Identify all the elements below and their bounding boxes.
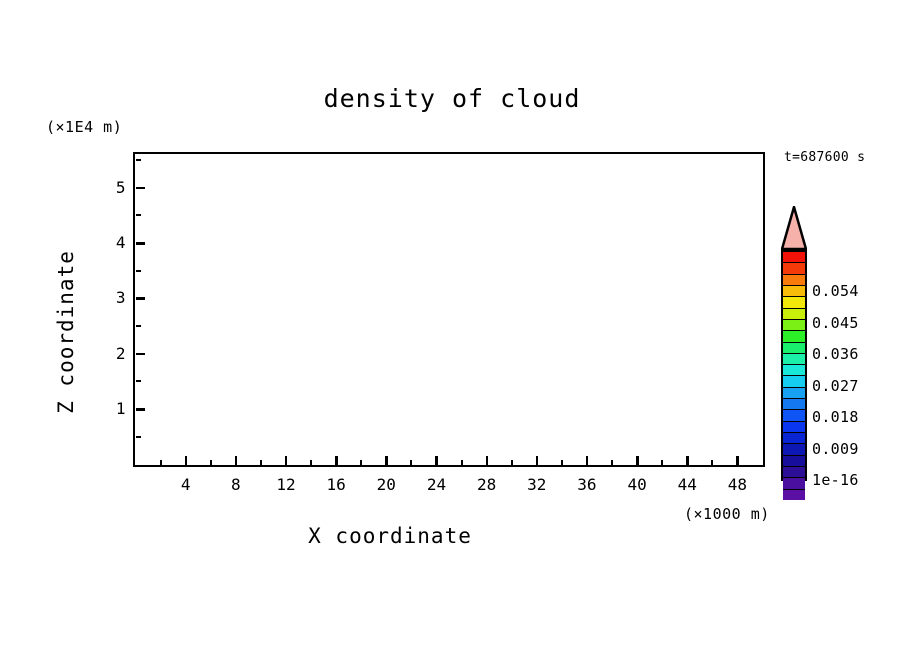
colorbar-tick-label: 1e-16 (812, 471, 859, 489)
colorbar-band (783, 478, 805, 489)
x-axis-minor-tick (310, 460, 312, 465)
x-axis-major-tick (686, 456, 689, 465)
z-axis-major-tick (136, 242, 145, 245)
colorbar-tick-label: 0.054 (812, 282, 859, 300)
z-axis-tick-label: 1 (96, 399, 126, 418)
colorbar-band (783, 331, 805, 342)
z-axis-minor-tick (136, 214, 141, 216)
x-axis-tick-label: 36 (567, 475, 607, 494)
x-axis-tick-label: 16 (316, 475, 356, 494)
colorbar-band (783, 297, 805, 308)
colorbar-tick-label: 0.018 (812, 408, 859, 426)
colorbar-tick-label: 0.027 (812, 377, 859, 395)
x-axis-major-tick (636, 456, 639, 465)
x-axis-major-tick (486, 456, 489, 465)
colorbar-band (783, 388, 805, 399)
x-axis-major-tick (536, 456, 539, 465)
colorbar-band (783, 286, 805, 297)
x-axis-major-tick (586, 456, 589, 465)
x-axis-title: X coordinate (0, 524, 780, 548)
x-axis-minor-tick (210, 460, 212, 465)
x-axis-tick-label: 40 (617, 475, 657, 494)
colorbar-band (783, 444, 805, 455)
colorbar-arrow-icon (781, 206, 807, 250)
colorbar-band (783, 365, 805, 376)
x-axis-tick-label: 20 (366, 475, 406, 494)
x-axis-unit-label: (×1000 m) (684, 505, 770, 523)
x-axis-minor-tick (561, 460, 563, 465)
x-axis-minor-tick (711, 460, 713, 465)
x-axis-major-tick (285, 456, 288, 465)
colorbar-band (783, 275, 805, 286)
z-axis-major-tick (136, 297, 145, 300)
x-axis-major-tick (385, 456, 388, 465)
x-axis-minor-tick (360, 460, 362, 465)
z-axis-minor-tick (136, 270, 141, 272)
x-axis-minor-tick (160, 460, 162, 465)
x-axis-minor-tick (511, 460, 513, 465)
x-axis-minor-tick (611, 460, 613, 465)
chart-title: density of cloud (0, 84, 904, 113)
colorbar-band (783, 309, 805, 320)
colorbar-band (783, 354, 805, 365)
x-axis-tick-label: 32 (517, 475, 557, 494)
colorbar-band (783, 422, 805, 433)
z-axis-minor-tick (136, 436, 141, 438)
colorbar-band (783, 433, 805, 444)
x-axis-tick-label: 44 (667, 475, 707, 494)
x-axis-major-tick (335, 456, 338, 465)
z-axis-minor-tick (136, 380, 141, 382)
colorbar-band (783, 252, 805, 263)
x-axis-major-tick (185, 456, 188, 465)
colorbar-band (783, 320, 805, 331)
timestamp-annotation: t=687600 s (784, 150, 865, 165)
colorbar-band (783, 399, 805, 410)
x-axis-minor-tick (260, 460, 262, 465)
x-axis-tick-label: 28 (467, 475, 507, 494)
z-axis-major-tick (136, 353, 145, 356)
x-axis-tick-label: 4 (166, 475, 206, 494)
z-axis-major-tick (136, 408, 145, 411)
x-axis-tick-label: 24 (416, 475, 456, 494)
z-axis-major-tick (136, 187, 145, 190)
z-axis-minor-tick (136, 159, 141, 161)
colorbar-band (783, 376, 805, 387)
colorbar-extend-arrow (781, 206, 807, 250)
colorbar (781, 250, 807, 481)
x-axis-major-tick (435, 456, 438, 465)
colorbar-band (783, 490, 805, 500)
x-axis-major-tick (235, 456, 238, 465)
colorbar-tick-label: 0.009 (812, 440, 859, 458)
z-axis-tick-label: 2 (96, 344, 126, 363)
colorbar-tick-label: 0.045 (812, 314, 859, 332)
x-axis-minor-tick (661, 460, 663, 465)
plot-frame (133, 152, 765, 467)
x-axis-tick-label: 12 (266, 475, 306, 494)
colorbar-band (783, 263, 805, 274)
x-axis-major-tick (736, 456, 739, 465)
colorbar-band (783, 456, 805, 467)
colorbar-band (783, 410, 805, 421)
z-axis-title: Z coordinate (54, 242, 78, 422)
x-axis-minor-tick (410, 460, 412, 465)
z-axis-minor-tick (136, 325, 141, 327)
z-axis-tick-label: 4 (96, 233, 126, 252)
x-axis-tick-label: 8 (216, 475, 256, 494)
colorbar-band (783, 343, 805, 354)
x-axis-minor-tick (461, 460, 463, 465)
z-axis-tick-label: 3 (96, 288, 126, 307)
x-axis-tick-label: 48 (717, 475, 757, 494)
z-axis-tick-label: 5 (96, 178, 126, 197)
z-axis-unit-label: (×1E4 m) (46, 118, 122, 136)
colorbar-band (783, 467, 805, 478)
colorbar-tick-label: 0.036 (812, 345, 859, 363)
